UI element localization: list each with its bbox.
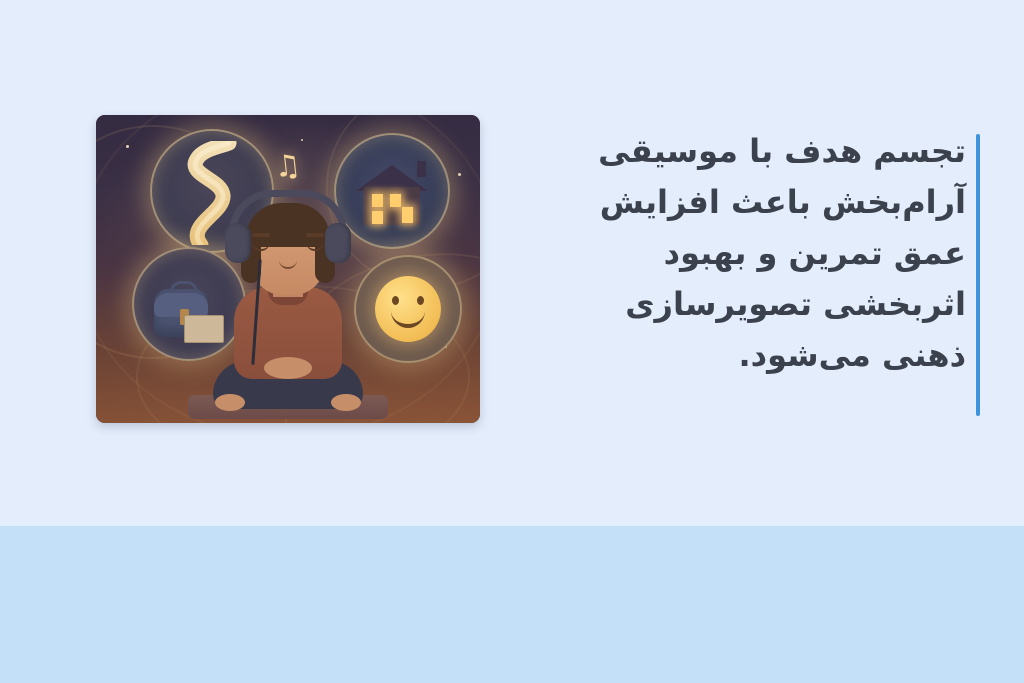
foot bbox=[215, 394, 245, 411]
star-speck bbox=[301, 139, 303, 141]
smiley-eye bbox=[392, 296, 399, 305]
headphone-earcup bbox=[325, 223, 351, 263]
house-window bbox=[390, 194, 401, 207]
quote-text: تجسم هدف با موسیقی آرام‌بخش باعث افزایش … bbox=[546, 126, 966, 380]
house-window bbox=[372, 194, 383, 207]
eyebrow bbox=[306, 233, 324, 237]
eyebrow bbox=[252, 233, 270, 237]
star-speck bbox=[126, 145, 129, 148]
illustration-card-wrapper: ♫ bbox=[90, 112, 490, 427]
illustration-card: ♫ bbox=[96, 115, 480, 423]
illustration-scene: ♫ bbox=[96, 115, 480, 423]
house-door bbox=[402, 207, 413, 223]
foot bbox=[331, 394, 361, 411]
star-speck bbox=[458, 173, 461, 176]
meditating-person bbox=[193, 208, 383, 423]
resting-hands bbox=[264, 357, 312, 379]
quote-vertical-rule bbox=[976, 134, 980, 416]
music-note-icon: ♫ bbox=[272, 148, 302, 186]
house-chimney bbox=[417, 161, 426, 177]
headphone-earcup bbox=[225, 223, 251, 263]
footer-band: mojtabatamassoki مجتبی تمسکی bbox=[0, 526, 1024, 683]
smiley-mouth bbox=[391, 306, 425, 328]
slide-canvas: ♫ bbox=[0, 0, 1024, 683]
smiley-eye bbox=[417, 296, 424, 305]
smiley-face-icon bbox=[375, 276, 441, 342]
